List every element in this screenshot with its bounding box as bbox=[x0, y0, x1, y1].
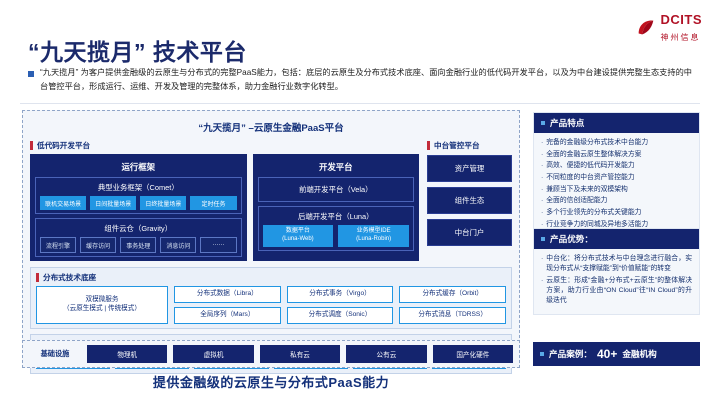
base-cell-microservice[interactable]: 双模微服务 （云原生模式 | 传统模式） bbox=[36, 286, 168, 324]
gravity-chip[interactable]: …… bbox=[200, 237, 236, 253]
advantage-item: ·中台化：将分布式技术与中台理念进行融合，实现分布式从“支撑赋能”到“价值赋能”… bbox=[541, 254, 692, 274]
base-wide-line2: （云原生模式 | 传统模式） bbox=[63, 305, 141, 312]
backend-tile[interactable]: 数据平台 (Luna-Web) bbox=[263, 225, 334, 247]
feature-item: ·不同粒度的中台资产管控能力 bbox=[541, 173, 692, 183]
comet-chip[interactable]: 日终批量场景 bbox=[140, 196, 186, 210]
backend-tile-code: (Luna-Web) bbox=[282, 236, 314, 242]
intro-paragraph: “九天揽月” 为客户提供金融级的云原生与分布式的完整PaaS能力，包括：底层的云… bbox=[28, 66, 692, 93]
case-suffix: 金融机构 bbox=[622, 348, 656, 360]
features-title: 产品特点 bbox=[550, 117, 584, 129]
feature-item: ·高效、便捷的低代码开发能力 bbox=[541, 161, 692, 171]
diagram-top-row: 低代码开发平台 运行框架 典型业务框架（Comet） 联机交易场景 日间批量场景… bbox=[30, 140, 512, 261]
control-platform-column: 中台管控平台 资产管理 组件生态 中台门户 bbox=[427, 140, 512, 251]
base-col: 分布式缓存（Orbit） 分布式消息（TDRSS） bbox=[399, 286, 506, 324]
infrastructure-cell[interactable]: 国产化硬件 bbox=[433, 345, 513, 363]
infrastructure-section: 基础设施 物理机 虚拟机 私有云 公有云 国产化硬件 bbox=[22, 340, 520, 368]
gravity-title: 组件云仓（Gravity） bbox=[40, 222, 237, 237]
section-tick-icon bbox=[30, 141, 33, 150]
page-title: “九天揽月” 技术平台 bbox=[28, 33, 247, 67]
base-cell[interactable]: 分布式缓存（Orbit） bbox=[399, 286, 506, 303]
bullet-square-icon bbox=[541, 237, 545, 241]
frontend-title: 前端开发平台（Vela） bbox=[263, 181, 409, 198]
base-cell[interactable]: 分布式消息（TDRSS） bbox=[399, 307, 506, 324]
infrastructure-label: 基础设施 bbox=[29, 349, 81, 359]
base-section-label: 分布式技术底座 bbox=[36, 272, 506, 283]
dev-platform-block: 开发平台 前端开发平台（Vela） 后端开发平台（Luna） 数据平台 (Lun… bbox=[253, 154, 419, 261]
product-advantages-panel: 产品优势： ·中台化：将分布式技术与中台理念进行融合，实现分布式从“支撑赋能”到… bbox=[533, 228, 700, 315]
lowcode-section-label: 低代码开发平台 bbox=[30, 140, 419, 151]
brand-logo: DCITS 神州信息 bbox=[635, 12, 703, 44]
list-dot-icon: · bbox=[541, 138, 543, 148]
intro-text: “九天揽月” 为客户提供金融级的云原生与分布式的完整PaaS能力，包括：底层的云… bbox=[40, 66, 692, 93]
diagram-title: “九天揽月” –云原生金融PaaS平台 bbox=[30, 116, 512, 140]
advantage-text: 云原生：形成“金融+分布式+云原生”的整体解决方案，助力行业由“ON Cloud… bbox=[546, 276, 692, 307]
base-cell[interactable]: 分布式事务（Virgo） bbox=[287, 286, 394, 303]
backend-tile[interactable]: 业务模型IDE (Luna-Robin) bbox=[338, 225, 409, 247]
gravity-chip[interactable]: 缓存访问 bbox=[80, 237, 116, 253]
infrastructure-cell[interactable]: 物理机 bbox=[87, 345, 167, 363]
infrastructure-cell[interactable]: 私有云 bbox=[260, 345, 340, 363]
control-section-label: 中台管控平台 bbox=[427, 140, 512, 151]
base-cell[interactable]: 分布式数据（Libra） bbox=[174, 286, 281, 303]
brand-text: DCITS 神州信息 bbox=[661, 12, 703, 44]
lowcode-label-text: 低代码开发平台 bbox=[37, 140, 90, 151]
control-item[interactable]: 资产管理 bbox=[427, 155, 512, 182]
backend-tile-name: 数据平台 bbox=[286, 228, 310, 234]
comet-chip[interactable]: 日间批量场景 bbox=[90, 196, 136, 210]
section-tick-icon bbox=[36, 273, 39, 282]
case-label: 产品案例： bbox=[549, 348, 592, 360]
product-case-banner: 产品案例： 40+ 金融机构 bbox=[533, 342, 700, 366]
backend-tile-name: 业务模型IDE bbox=[357, 228, 391, 234]
infrastructure-cell[interactable]: 虚拟机 bbox=[173, 345, 253, 363]
feature-item: ·全面的金融云原生整体解决方案 bbox=[541, 150, 692, 160]
list-dot-icon: · bbox=[541, 254, 543, 274]
feature-item: ·完备的金融级分布式技术中台能力 bbox=[541, 138, 692, 148]
control-label-text: 中台管控平台 bbox=[434, 140, 480, 151]
comet-chip[interactable]: 定时任务 bbox=[190, 196, 236, 210]
backend-group: 后端开发平台（Luna） 数据平台 (Luna-Web) 业务模型IDE (Lu… bbox=[258, 206, 414, 251]
base-wide-line1: 双模微服务 bbox=[86, 296, 119, 303]
dev-platform-title: 开发平台 bbox=[258, 158, 414, 177]
feature-text: 多个行业领先的分布式关键能力 bbox=[546, 208, 641, 218]
product-features-panel: 产品特点 ·完备的金融级分布式技术中台能力 ·全面的金融云原生整体解决方案 ·高… bbox=[533, 112, 700, 239]
distributed-base-section: 分布式技术底座 双模微服务 （云原生模式 | 传统模式） 分布式数据（Libra… bbox=[30, 267, 512, 329]
frontend-group: 前端开发平台（Vela） bbox=[258, 177, 414, 202]
brand-en: DCITS bbox=[661, 12, 703, 27]
infrastructure-cell[interactable]: 公有云 bbox=[346, 345, 426, 363]
gravity-chip[interactable]: 流程引擎 bbox=[40, 237, 76, 253]
feature-text: 兼顾当下及未来的双模架构 bbox=[546, 185, 628, 195]
list-dot-icon: · bbox=[541, 150, 543, 160]
list-dot-icon: · bbox=[541, 196, 543, 206]
advantage-text: 中台化：将分布式技术与中台理念进行融合，实现分布式从“支撑赋能”到“价值赋能”的… bbox=[546, 254, 692, 274]
comet-chip-row: 联机交易场景 日间批量场景 日终批量场景 定时任务 bbox=[40, 196, 237, 210]
feature-text: 不同粒度的中台资产管控能力 bbox=[546, 173, 634, 183]
list-dot-icon: · bbox=[541, 276, 543, 307]
list-dot-icon: · bbox=[541, 173, 543, 183]
feature-item: ·全面的信创适配能力 bbox=[541, 196, 692, 206]
bullet-square-icon bbox=[28, 71, 34, 77]
brand-cn: 神州信息 bbox=[661, 33, 701, 42]
case-number: 40+ bbox=[597, 347, 617, 361]
control-item[interactable]: 组件生态 bbox=[427, 187, 512, 214]
features-list: ·完备的金融级分布式技术中台能力 ·全面的金融云原生整体解决方案 ·高效、便捷的… bbox=[534, 133, 699, 238]
base-col: 分布式数据（Libra） 全局序列（Mars） bbox=[174, 286, 281, 324]
header-divider bbox=[20, 103, 700, 104]
list-dot-icon: · bbox=[541, 185, 543, 195]
base-label-text: 分布式技术底座 bbox=[43, 272, 96, 283]
base-col: 分布式事务（Virgo） 分布式调度（Sonic） bbox=[287, 286, 394, 324]
backend-tile-row: 数据平台 (Luna-Web) 业务模型IDE (Luna-Robin) bbox=[263, 225, 409, 247]
comet-title: 典型业务框架（Comet） bbox=[40, 181, 237, 196]
architecture-diagram: “九天揽月” –云原生金融PaaS平台 低代码开发平台 运行框架 典型业务框架（… bbox=[22, 110, 520, 368]
bullet-square-icon bbox=[540, 352, 544, 356]
lowcode-column: 低代码开发平台 运行框架 典型业务框架（Comet） 联机交易场景 日间批量场景… bbox=[30, 140, 419, 261]
feature-text: 完备的金融级分布式技术中台能力 bbox=[546, 138, 648, 148]
feature-text: 全面的信创适配能力 bbox=[546, 196, 607, 206]
advantages-list: ·中台化：将分布式技术与中台理念进行融合，实现分布式从“支撑赋能”到“价值赋能”… bbox=[534, 249, 699, 314]
feature-text: 全面的金融云原生整体解决方案 bbox=[546, 150, 641, 160]
feature-item: ·多个行业领先的分布式关键能力 bbox=[541, 208, 692, 218]
section-tick-icon bbox=[427, 141, 430, 150]
advantage-item: ·云原生：形成“金融+分布式+云原生”的整体解决方案，助力行业由“ON Clou… bbox=[541, 276, 692, 307]
feature-text: 高效、便捷的低代码开发能力 bbox=[546, 161, 634, 171]
comet-chip[interactable]: 联机交易场景 bbox=[40, 196, 86, 210]
gravity-chip-row: 流程引擎 缓存访问 事务处理 消息访问 …… bbox=[40, 237, 237, 253]
runtime-title: 运行框架 bbox=[35, 158, 242, 177]
advantages-header: 产品优势： bbox=[534, 229, 699, 249]
control-item[interactable]: 中台门户 bbox=[427, 219, 512, 246]
feature-item: ·兼顾当下及未来的双模架构 bbox=[541, 185, 692, 195]
backend-tile-code: (Luna-Robin) bbox=[356, 236, 391, 242]
advantages-title: 产品优势： bbox=[550, 233, 593, 245]
gravity-chip[interactable]: 消息访问 bbox=[160, 237, 196, 253]
backend-title: 后端开发平台（Luna） bbox=[263, 210, 409, 225]
bullet-square-icon bbox=[541, 121, 545, 125]
dcits-mark-icon bbox=[635, 17, 657, 39]
diagram-caption: 提供金融级的云原生与分布式PaaS能力 bbox=[22, 372, 520, 391]
gravity-chip[interactable]: 事务处理 bbox=[120, 237, 156, 253]
base-cell[interactable]: 全局序列（Mars） bbox=[174, 307, 281, 324]
runtime-framework-block: 运行框架 典型业务框架（Comet） 联机交易场景 日间批量场景 日终批量场景 … bbox=[30, 154, 247, 261]
features-header: 产品特点 bbox=[534, 113, 699, 133]
base-grid: 双模微服务 （云原生模式 | 传统模式） 分布式数据（Libra） 全局序列（M… bbox=[36, 286, 506, 324]
base-wide-col: 双模微服务 （云原生模式 | 传统模式） bbox=[36, 286, 168, 324]
gravity-group: 组件云仓（Gravity） 流程引擎 缓存访问 事务处理 消息访问 …… bbox=[35, 218, 242, 257]
base-cell[interactable]: 分布式调度（Sonic） bbox=[287, 307, 394, 324]
list-dot-icon: · bbox=[541, 161, 543, 171]
comet-group: 典型业务框架（Comet） 联机交易场景 日间批量场景 日终批量场景 定时任务 bbox=[35, 177, 242, 214]
list-dot-icon: · bbox=[541, 208, 543, 218]
